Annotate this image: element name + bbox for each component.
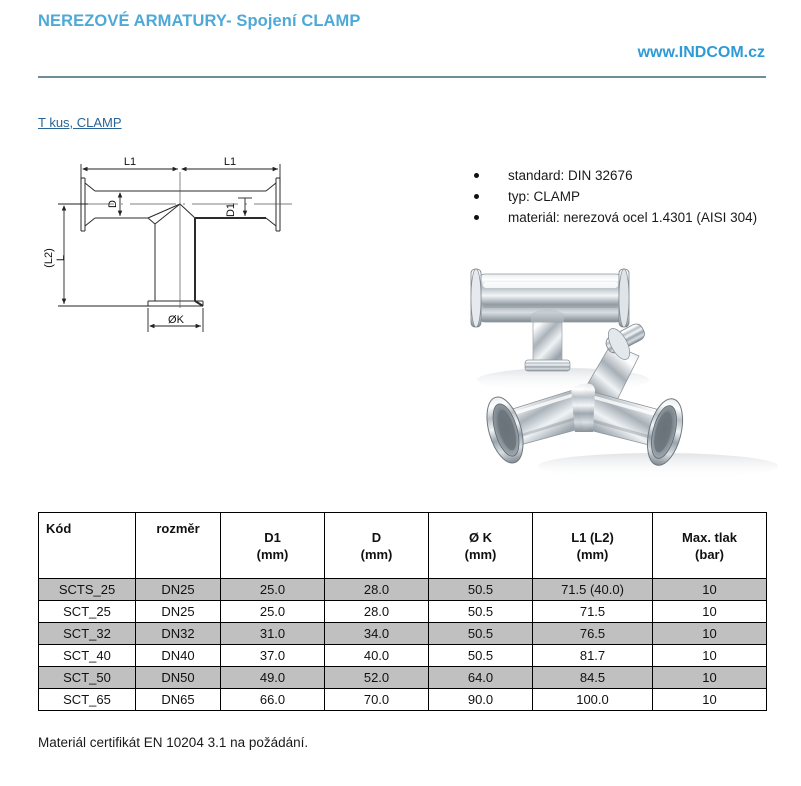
list-item: standard: DIN 32676: [470, 165, 790, 186]
table-row: SCT_25 DN25 25.0 28.0 50.5 71.5 10: [39, 601, 767, 623]
cell-rozmer: DN65: [136, 689, 221, 711]
column-header-line1: D: [325, 529, 428, 546]
cell-kod: SCT_50: [39, 667, 136, 689]
dim-label-l2: (L2): [43, 248, 55, 268]
header-divider: [38, 76, 766, 78]
cell-rozmer: DN32: [136, 623, 221, 645]
column-header-max-tlak: Max. tlak (bar): [653, 513, 767, 579]
cell-kod: SCT_25: [39, 601, 136, 623]
cell-l1-l2: 71.5 (40.0): [533, 579, 653, 601]
dim-label-l1-left: L1: [124, 156, 136, 168]
column-header-line1: L1 (L2): [533, 529, 652, 546]
list-item: materiál: nerezová ocel 1.4301 (AISI 304…: [470, 207, 790, 228]
cell-d: 28.0: [325, 579, 429, 601]
column-header-line2: (bar): [653, 546, 766, 563]
cell-ok: 50.5: [429, 579, 533, 601]
column-header-line2: (mm): [533, 546, 652, 563]
cell-ok: 50.5: [429, 623, 533, 645]
cell-max-tlak: 10: [653, 601, 767, 623]
cell-l1-l2: 81.7: [533, 645, 653, 667]
column-header-d1: D1 (mm): [221, 513, 325, 579]
table-row: SCT_50 DN50 49.0 52.0 64.0 84.5 10: [39, 667, 767, 689]
table-row: SCT_40 DN40 37.0 40.0 50.5 81.7 10: [39, 645, 767, 667]
table-row: SCT_32 DN32 31.0 34.0 50.5 76.5 10: [39, 623, 767, 645]
cell-d1: 25.0: [221, 601, 325, 623]
cell-ok: 50.5: [429, 601, 533, 623]
cell-d: 40.0: [325, 645, 429, 667]
table-row: SCTS_25 DN25 25.0 28.0 50.5 71.5 (40.0) …: [39, 579, 767, 601]
dim-label-l: L: [55, 255, 67, 261]
cell-kod: SCT_32: [39, 623, 136, 645]
cell-kod: SCT_40: [39, 645, 136, 667]
cell-max-tlak: 10: [653, 623, 767, 645]
cell-kod: SCT_65: [39, 689, 136, 711]
footer-note: Materiál certifikát EN 10204 3.1 na požá…: [38, 735, 308, 750]
column-header-line1: Ø K: [429, 529, 532, 546]
cell-ok: 90.0: [429, 689, 533, 711]
cell-d1: 37.0: [221, 645, 325, 667]
cell-l1-l2: 76.5: [533, 623, 653, 645]
cell-d1: 49.0: [221, 667, 325, 689]
cell-rozmer: DN50: [136, 667, 221, 689]
column-header-kod: Kód: [39, 513, 136, 579]
column-header-ok: Ø K (mm): [429, 513, 533, 579]
specification-table: Kód rozměr D1 (mm) D (mm) Ø K (mm) L1 (L…: [38, 512, 767, 711]
spec-list: standard: DIN 32676 typ: CLAMP materiál:…: [470, 165, 790, 228]
table-header-row: Kód rozměr D1 (mm) D (mm) Ø K (mm) L1 (L…: [39, 513, 767, 579]
cell-d1: 31.0: [221, 623, 325, 645]
dim-label-d: D: [107, 200, 119, 208]
column-header-line2: (mm): [221, 546, 324, 563]
column-header-l1-l2: L1 (L2) (mm): [533, 513, 653, 579]
cell-max-tlak: 10: [653, 667, 767, 689]
cell-l1-l2: 84.5: [533, 667, 653, 689]
cell-l1-l2: 100.0: [533, 689, 653, 711]
cell-d: 34.0: [325, 623, 429, 645]
site-url: www.INDCOM.cz: [638, 44, 765, 62]
cell-rozmer: DN25: [136, 579, 221, 601]
cell-ok: 64.0: [429, 667, 533, 689]
list-item: typ: CLAMP: [470, 186, 790, 207]
cell-rozmer: DN40: [136, 645, 221, 667]
column-header-line1: Max. tlak: [653, 529, 766, 546]
cell-d: 28.0: [325, 601, 429, 623]
cell-max-tlak: 10: [653, 579, 767, 601]
cell-d1: 25.0: [221, 579, 325, 601]
column-header-line1: rozměr: [136, 520, 220, 537]
page-title: NEREZOVÉ ARMATURY- Spojení CLAMP: [38, 12, 361, 31]
column-header-rozmer: rozměr: [136, 513, 221, 579]
column-header-line2: (mm): [429, 546, 532, 563]
technical-drawing-tee: L1 L1 D D1 (L2) L ØK: [40, 136, 350, 346]
dim-label-ok: ØK: [168, 314, 185, 326]
cell-l1-l2: 71.5: [533, 601, 653, 623]
section-link-t-kus-clamp[interactable]: T kus, CLAMP: [38, 115, 122, 130]
dim-label-d1: D1: [225, 203, 237, 217]
column-header-line1: Kód: [46, 520, 135, 537]
cell-d: 70.0: [325, 689, 429, 711]
cell-d: 52.0: [325, 667, 429, 689]
column-header-line2: (mm): [325, 546, 428, 563]
table-row: SCT_65 DN65 66.0 70.0 90.0 100.0 10: [39, 689, 767, 711]
column-header-d: D (mm): [325, 513, 429, 579]
product-photo-clamp-tees: [443, 252, 798, 480]
cell-rozmer: DN25: [136, 601, 221, 623]
cell-ok: 50.5: [429, 645, 533, 667]
cell-kod: SCTS_25: [39, 579, 136, 601]
cell-d1: 66.0: [221, 689, 325, 711]
dim-label-l1-right: L1: [224, 156, 236, 168]
cell-max-tlak: 10: [653, 689, 767, 711]
column-header-line1: D1: [221, 529, 324, 546]
cell-max-tlak: 10: [653, 645, 767, 667]
